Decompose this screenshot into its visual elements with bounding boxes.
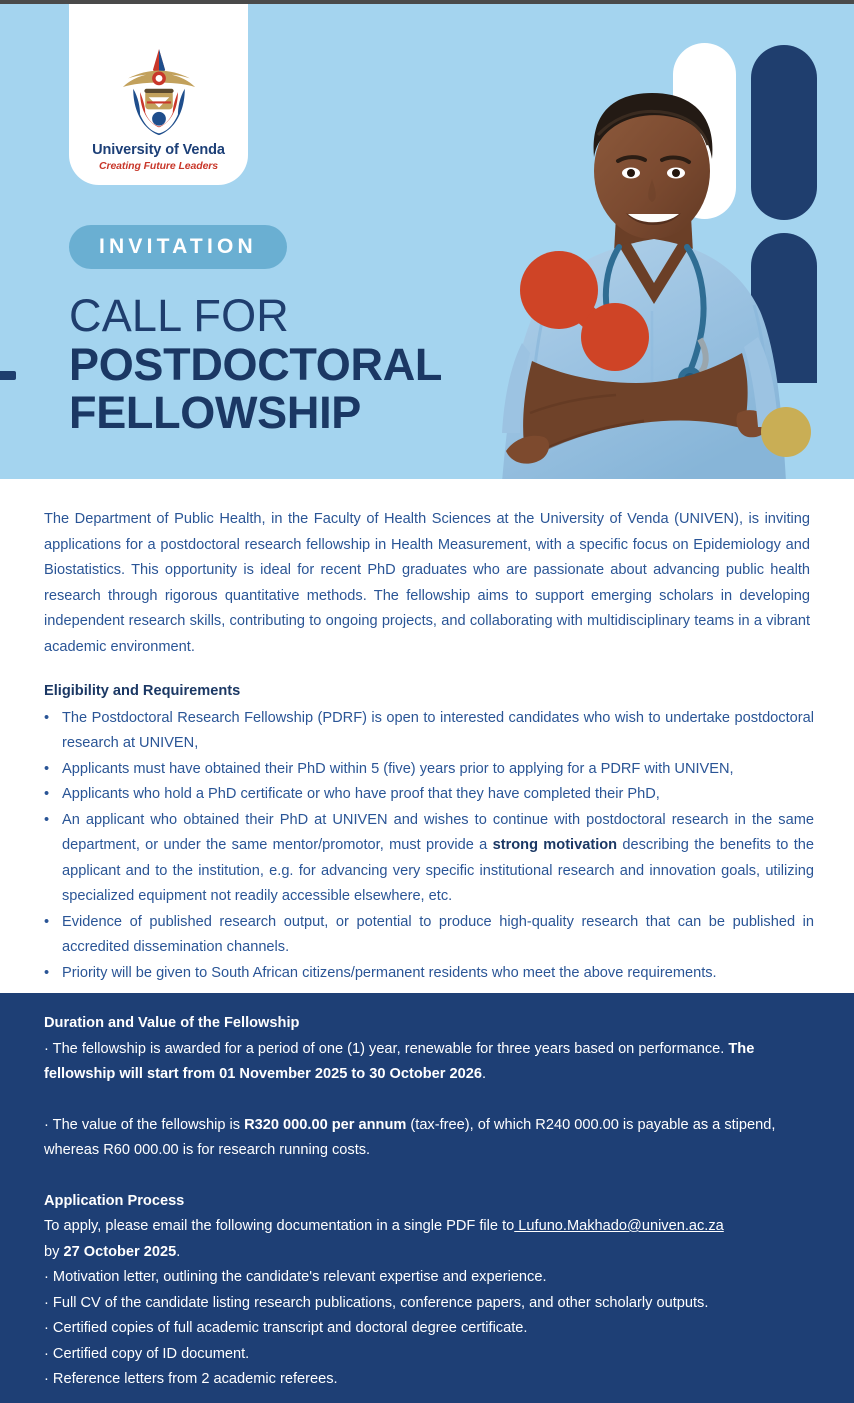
dark-inner-content: Duration and Value of the Fellowship · T… xyxy=(44,1011,814,1393)
duration-text-1: · The fellowship is awarded for a period… xyxy=(44,1041,728,1057)
invitation-badge: INVITATION xyxy=(69,225,287,269)
application-deadline-line: by 27 October 2025. xyxy=(44,1240,814,1266)
white-content-section: The Department of Public Health, in the … xyxy=(0,479,854,993)
duration-line-2: · The value of the fellowship is R320 00… xyxy=(44,1113,814,1164)
list-item: Applicants must have obtained their PhD … xyxy=(44,757,814,783)
top-strip xyxy=(0,0,854,4)
duration-title: Duration and Value of the Fellowship xyxy=(44,1011,814,1037)
value-amount: R320 000.00 per annum xyxy=(244,1117,406,1133)
document-item: · Certified copy of ID document. xyxy=(44,1342,814,1368)
headline-line-1: CALL FOR xyxy=(69,293,442,339)
application-title: Application Process xyxy=(44,1189,814,1215)
headline-line-2: POSTDOCTORAL xyxy=(69,341,442,389)
list-item: Applicants who hold a PhD certificate or… xyxy=(44,782,814,808)
document-item: · Reference letters from 2 academic refe… xyxy=(44,1367,814,1393)
logo-tagline: Creating Future Leaders xyxy=(99,161,218,172)
dark-content-section: Duration and Value of the Fellowship · T… xyxy=(0,993,854,1403)
eligibility-section: Eligibility and Requirements The Postdoc… xyxy=(44,679,814,986)
decor-navy-dash xyxy=(0,371,16,380)
eligibility-title: Eligibility and Requirements xyxy=(44,679,814,705)
headline-line-3: FELLOWSHIP xyxy=(69,389,442,437)
hero-banner: University of Venda Creating Future Lead… xyxy=(0,3,854,479)
spacer xyxy=(44,1088,814,1113)
list-item: Priority will be given to South African … xyxy=(44,961,814,987)
spacer xyxy=(44,1164,814,1189)
decor-orange-molecule xyxy=(520,246,660,371)
university-logo-card: University of Venda Creating Future Lead… xyxy=(69,3,248,185)
university-crest-icon xyxy=(116,47,202,139)
contact-email-link[interactable]: Lufuno.Makhado@univen.ac.za xyxy=(514,1218,724,1234)
item4-emphasis: strong motivation xyxy=(493,837,617,853)
application-intro: To apply, please email the following doc… xyxy=(44,1214,814,1240)
deadline-text-1: by xyxy=(44,1244,63,1260)
logo-university-name: University of Venda xyxy=(92,143,225,158)
eligibility-list: The Postdoctoral Research Fellowship (PD… xyxy=(44,706,814,987)
poster-page: University of Venda Creating Future Lead… xyxy=(0,0,854,1403)
document-item: · Motivation letter, outlining the candi… xyxy=(44,1265,814,1291)
deadline-date: 27 October 2025 xyxy=(63,1244,176,1260)
document-item: · Certified copies of full academic tran… xyxy=(44,1316,814,1342)
decor-gold-circle xyxy=(761,407,811,457)
list-item: The Postdoctoral Research Fellowship (PD… xyxy=(44,706,814,757)
hero-headline-block: INVITATION CALL FOR POSTDOCTORAL FELLOWS… xyxy=(69,225,442,436)
apply-text-1: To apply, please email the following doc… xyxy=(44,1218,514,1234)
intro-paragraph: The Department of Public Health, in the … xyxy=(44,507,810,660)
document-item: · Full CV of the candidate listing resea… xyxy=(44,1291,814,1317)
deadline-text-2: . xyxy=(176,1244,180,1260)
value-text-1: · The value of the fellowship is xyxy=(44,1117,244,1133)
list-item: An applicant who obtained their PhD at U… xyxy=(44,808,814,910)
duration-line-1: · The fellowship is awarded for a period… xyxy=(44,1037,814,1088)
list-item: Evidence of published research output, o… xyxy=(44,910,814,961)
duration-text-end: . xyxy=(482,1066,486,1082)
